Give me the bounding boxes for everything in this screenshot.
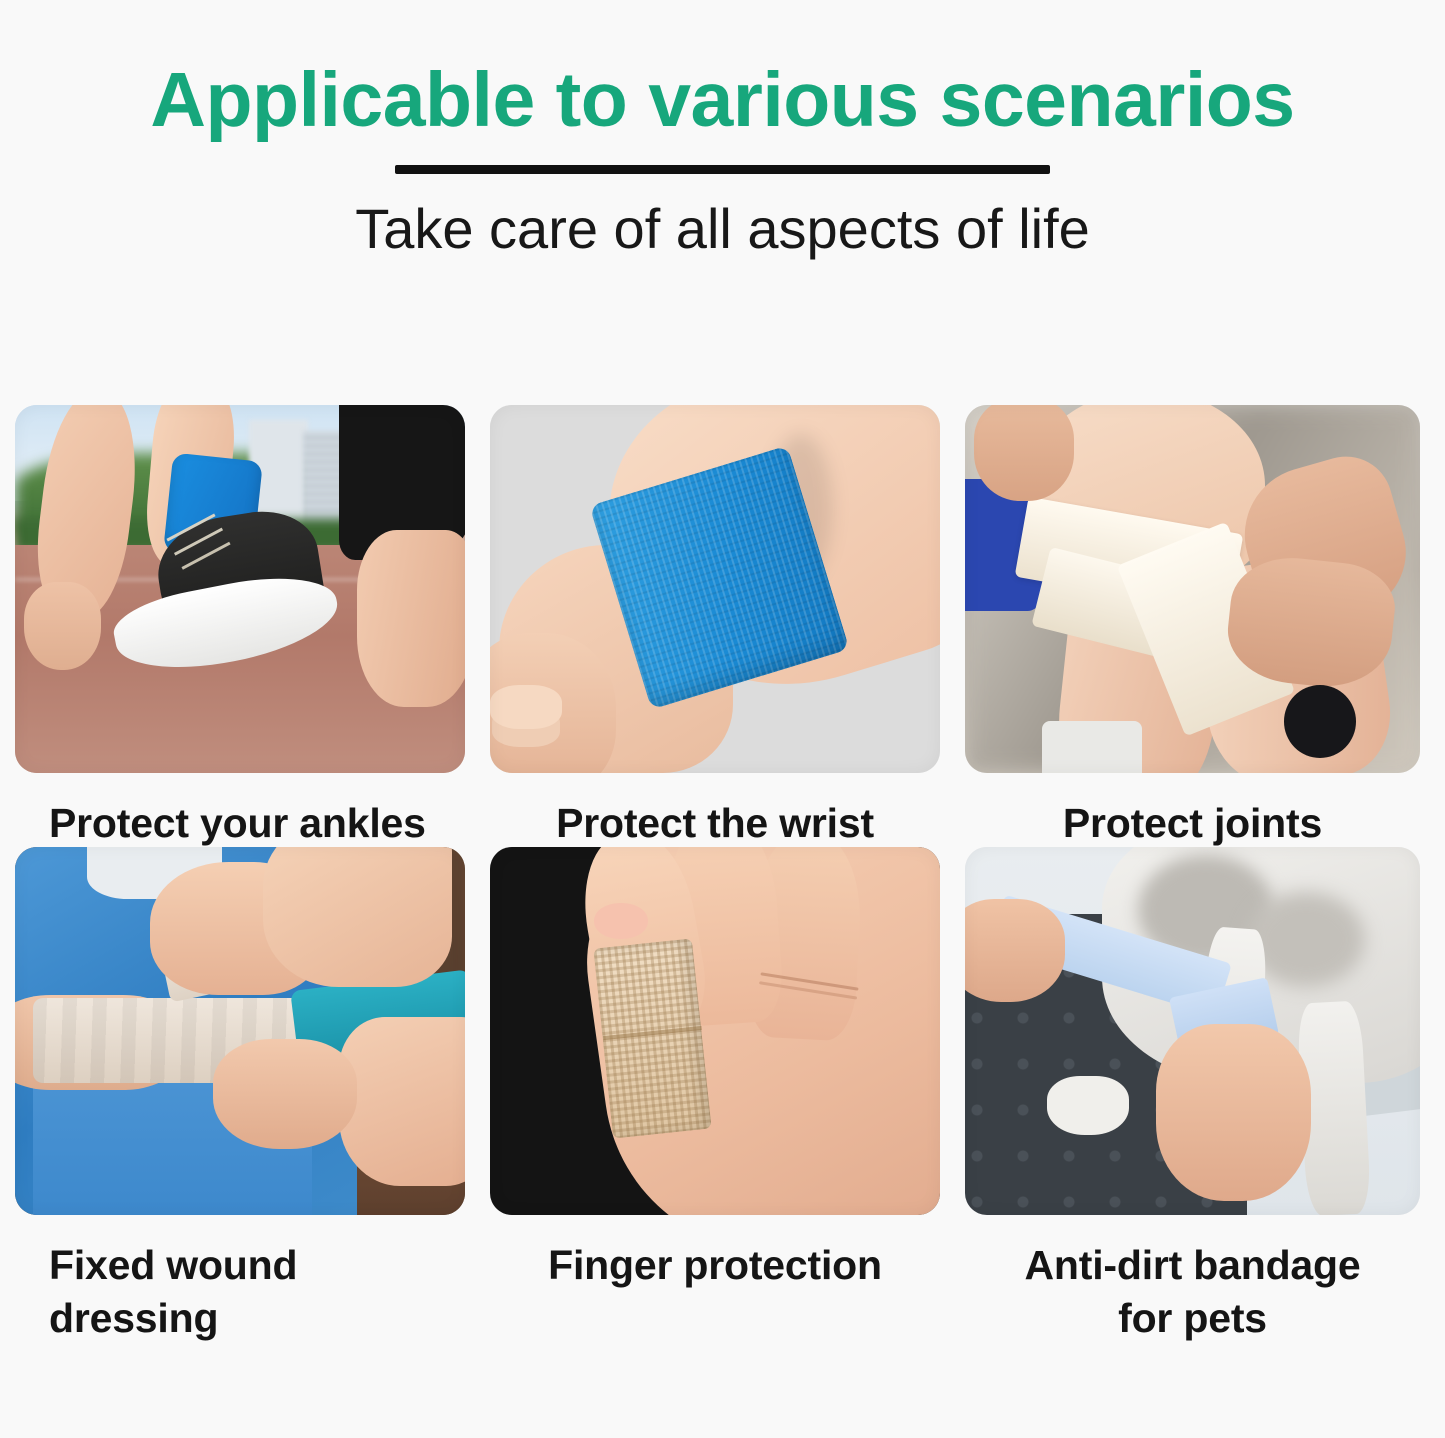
- ankle-scene-illustration: [15, 405, 465, 773]
- scenario-caption-pets-line1: Anti-dirt bandage: [1025, 1242, 1361, 1288]
- scenario-card-wound[interactable]: Fixed wound dressing: [15, 847, 465, 1344]
- page-subtitle: Take care of all aspects of life: [0, 200, 1445, 259]
- wrist-scene-illustration: [490, 405, 940, 773]
- scenario-card-joints[interactable]: Protect joints: [965, 405, 1420, 849]
- scenario-image-wound: [15, 847, 465, 1215]
- scenario-caption-pets: Anti-dirt bandage for pets: [965, 1239, 1420, 1344]
- scenario-image-pets: [965, 847, 1420, 1215]
- scenario-image-wrist: [490, 405, 940, 773]
- scenario-image-finger: [490, 847, 940, 1215]
- scenario-caption-wound: Fixed wound dressing: [15, 1239, 465, 1344]
- scenario-caption-ankles: Protect your ankles: [15, 797, 465, 849]
- title-divider-wrap: [0, 165, 1445, 174]
- scenario-caption-joints: Protect joints: [965, 797, 1420, 849]
- scenario-caption-pets-line2: for pets: [1118, 1295, 1267, 1341]
- knee-scene-illustration: [965, 405, 1420, 773]
- scenario-image-joints: [965, 405, 1420, 773]
- scenario-caption-wrist: Protect the wrist: [490, 797, 940, 849]
- page-title: Applicable to various scenarios: [0, 62, 1445, 139]
- title-divider: [395, 165, 1050, 174]
- scenario-grid: Protect your ankles Protect the wrist: [15, 405, 1430, 1344]
- scenario-card-wrist[interactable]: Protect the wrist: [490, 405, 940, 849]
- scenario-card-finger[interactable]: Finger protection: [490, 847, 940, 1344]
- wound-dressing-scene-illustration: [15, 847, 465, 1215]
- scenario-card-ankles[interactable]: Protect your ankles: [15, 405, 465, 849]
- scenario-caption-finger: Finger protection: [490, 1239, 940, 1291]
- scenario-image-ankles: [15, 405, 465, 773]
- header: Applicable to various scenarios Take car…: [0, 0, 1445, 259]
- finger-scene-illustration: [490, 847, 940, 1215]
- scenario-card-pets[interactable]: Anti-dirt bandage for pets: [965, 847, 1420, 1344]
- pet-scene-illustration: [965, 847, 1420, 1215]
- infographic-page: Applicable to various scenarios Take car…: [0, 0, 1445, 1438]
